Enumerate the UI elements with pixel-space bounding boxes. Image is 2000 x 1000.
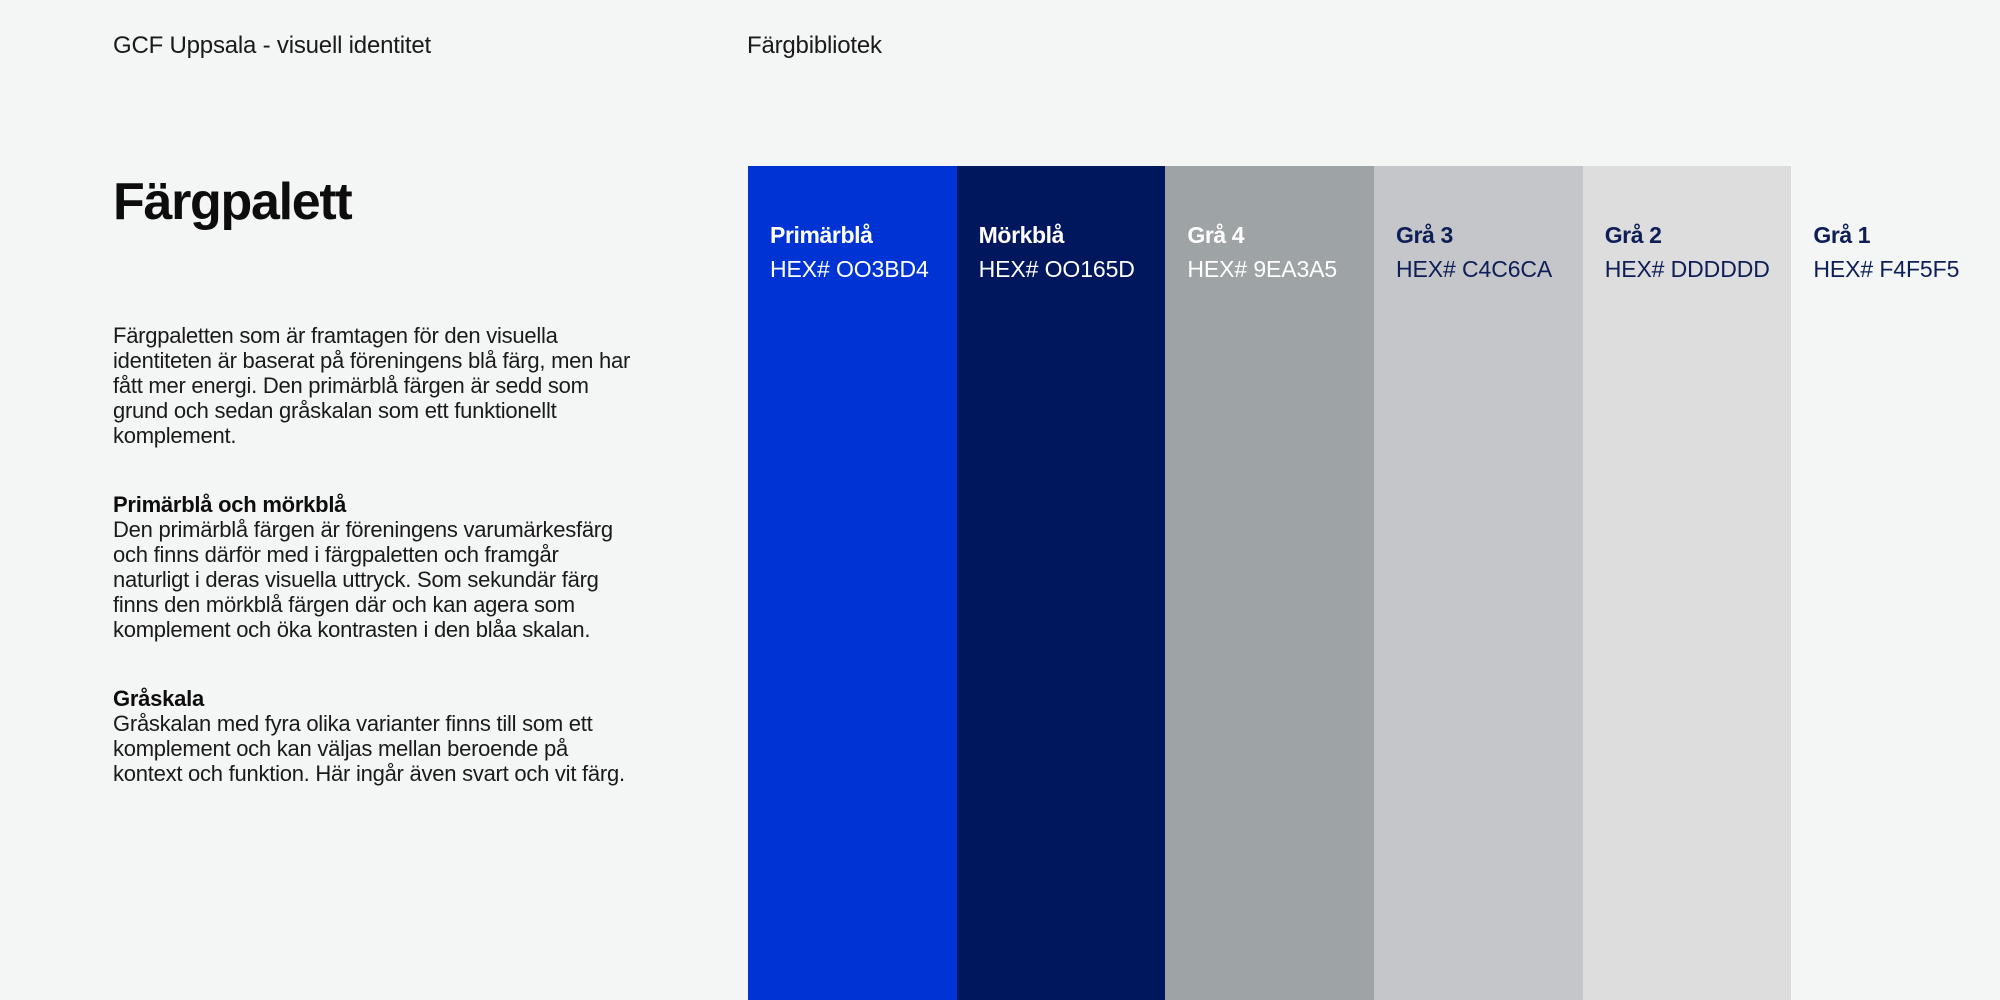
color-swatch-hex: HEX# 9EA3A5 — [1187, 256, 1366, 284]
page-header: GCF Uppsala - visuell identitet Färgbibl… — [0, 0, 2000, 90]
color-swatch[interactable]: Grå 4HEX# 9EA3A5 — [1165, 166, 1374, 1000]
color-swatch[interactable]: MörkblåHEX# OO165D — [957, 166, 1166, 1000]
section-title-graskala: Gråskala — [113, 686, 633, 711]
text-column: Färgpalett Färgpaletten som är framtagen… — [113, 175, 633, 786]
header-document-title: GCF Uppsala - visuell identitet — [113, 32, 431, 60]
color-swatch-strip: PrimärblåHEX# OO3BD4MörkblåHEX# OO165DGr… — [748, 166, 2000, 1000]
color-swatch-name: Grå 3 — [1396, 222, 1575, 250]
color-swatch-name: Primärblå — [770, 222, 949, 250]
section-title-primarbla: Primärblå och mörkblå — [113, 492, 633, 517]
color-swatch-labels: MörkblåHEX# OO165D — [979, 222, 1158, 283]
color-swatch-hex: HEX# F4F5F5 — [1813, 256, 1992, 284]
color-swatch-hex: HEX# OO165D — [979, 256, 1158, 284]
intro-block: Färgpaletten som är framtagen för den vi… — [113, 323, 633, 448]
page-title: Färgpalett — [113, 175, 633, 230]
color-swatch[interactable]: Grå 2HEX# DDDDDD — [1583, 166, 1792, 1000]
color-swatch-name: Grå 1 — [1813, 222, 1992, 250]
color-swatch-hex: HEX# OO3BD4 — [770, 256, 949, 284]
color-swatch-name: Grå 2 — [1605, 222, 1784, 250]
section-graskala: Gråskala Gråskalan med fyra olika varian… — [113, 686, 633, 786]
header-section-title: Färgbibliotek — [747, 32, 882, 60]
color-swatch-hex: HEX# DDDDDD — [1605, 256, 1784, 284]
intro-paragraph: Färgpaletten som är framtagen för den vi… — [113, 323, 633, 448]
section-body-graskala: Gråskalan med fyra olika varianter finns… — [113, 711, 633, 786]
color-swatch[interactable]: Grå 1HEX# F4F5F5 — [1791, 166, 2000, 1000]
color-swatch-labels: Grå 4HEX# 9EA3A5 — [1187, 222, 1366, 283]
color-swatch-labels: Grå 2HEX# DDDDDD — [1605, 222, 1784, 283]
color-swatch-name: Grå 4 — [1187, 222, 1366, 250]
color-swatch-labels: Grå 3HEX# C4C6CA — [1396, 222, 1575, 283]
section-primarbla: Primärblå och mörkblå Den primärblå färg… — [113, 492, 633, 642]
color-swatch-name: Mörkblå — [979, 222, 1158, 250]
color-swatch-labels: PrimärblåHEX# OO3BD4 — [770, 222, 949, 283]
color-swatch-labels: Grå 1HEX# F4F5F5 — [1813, 222, 1992, 283]
section-body-primarbla: Den primärblå färgen är föreningens varu… — [113, 517, 633, 642]
color-swatch-hex: HEX# C4C6CA — [1396, 256, 1575, 284]
color-swatch[interactable]: PrimärblåHEX# OO3BD4 — [748, 166, 957, 1000]
color-swatch[interactable]: Grå 3HEX# C4C6CA — [1374, 166, 1583, 1000]
